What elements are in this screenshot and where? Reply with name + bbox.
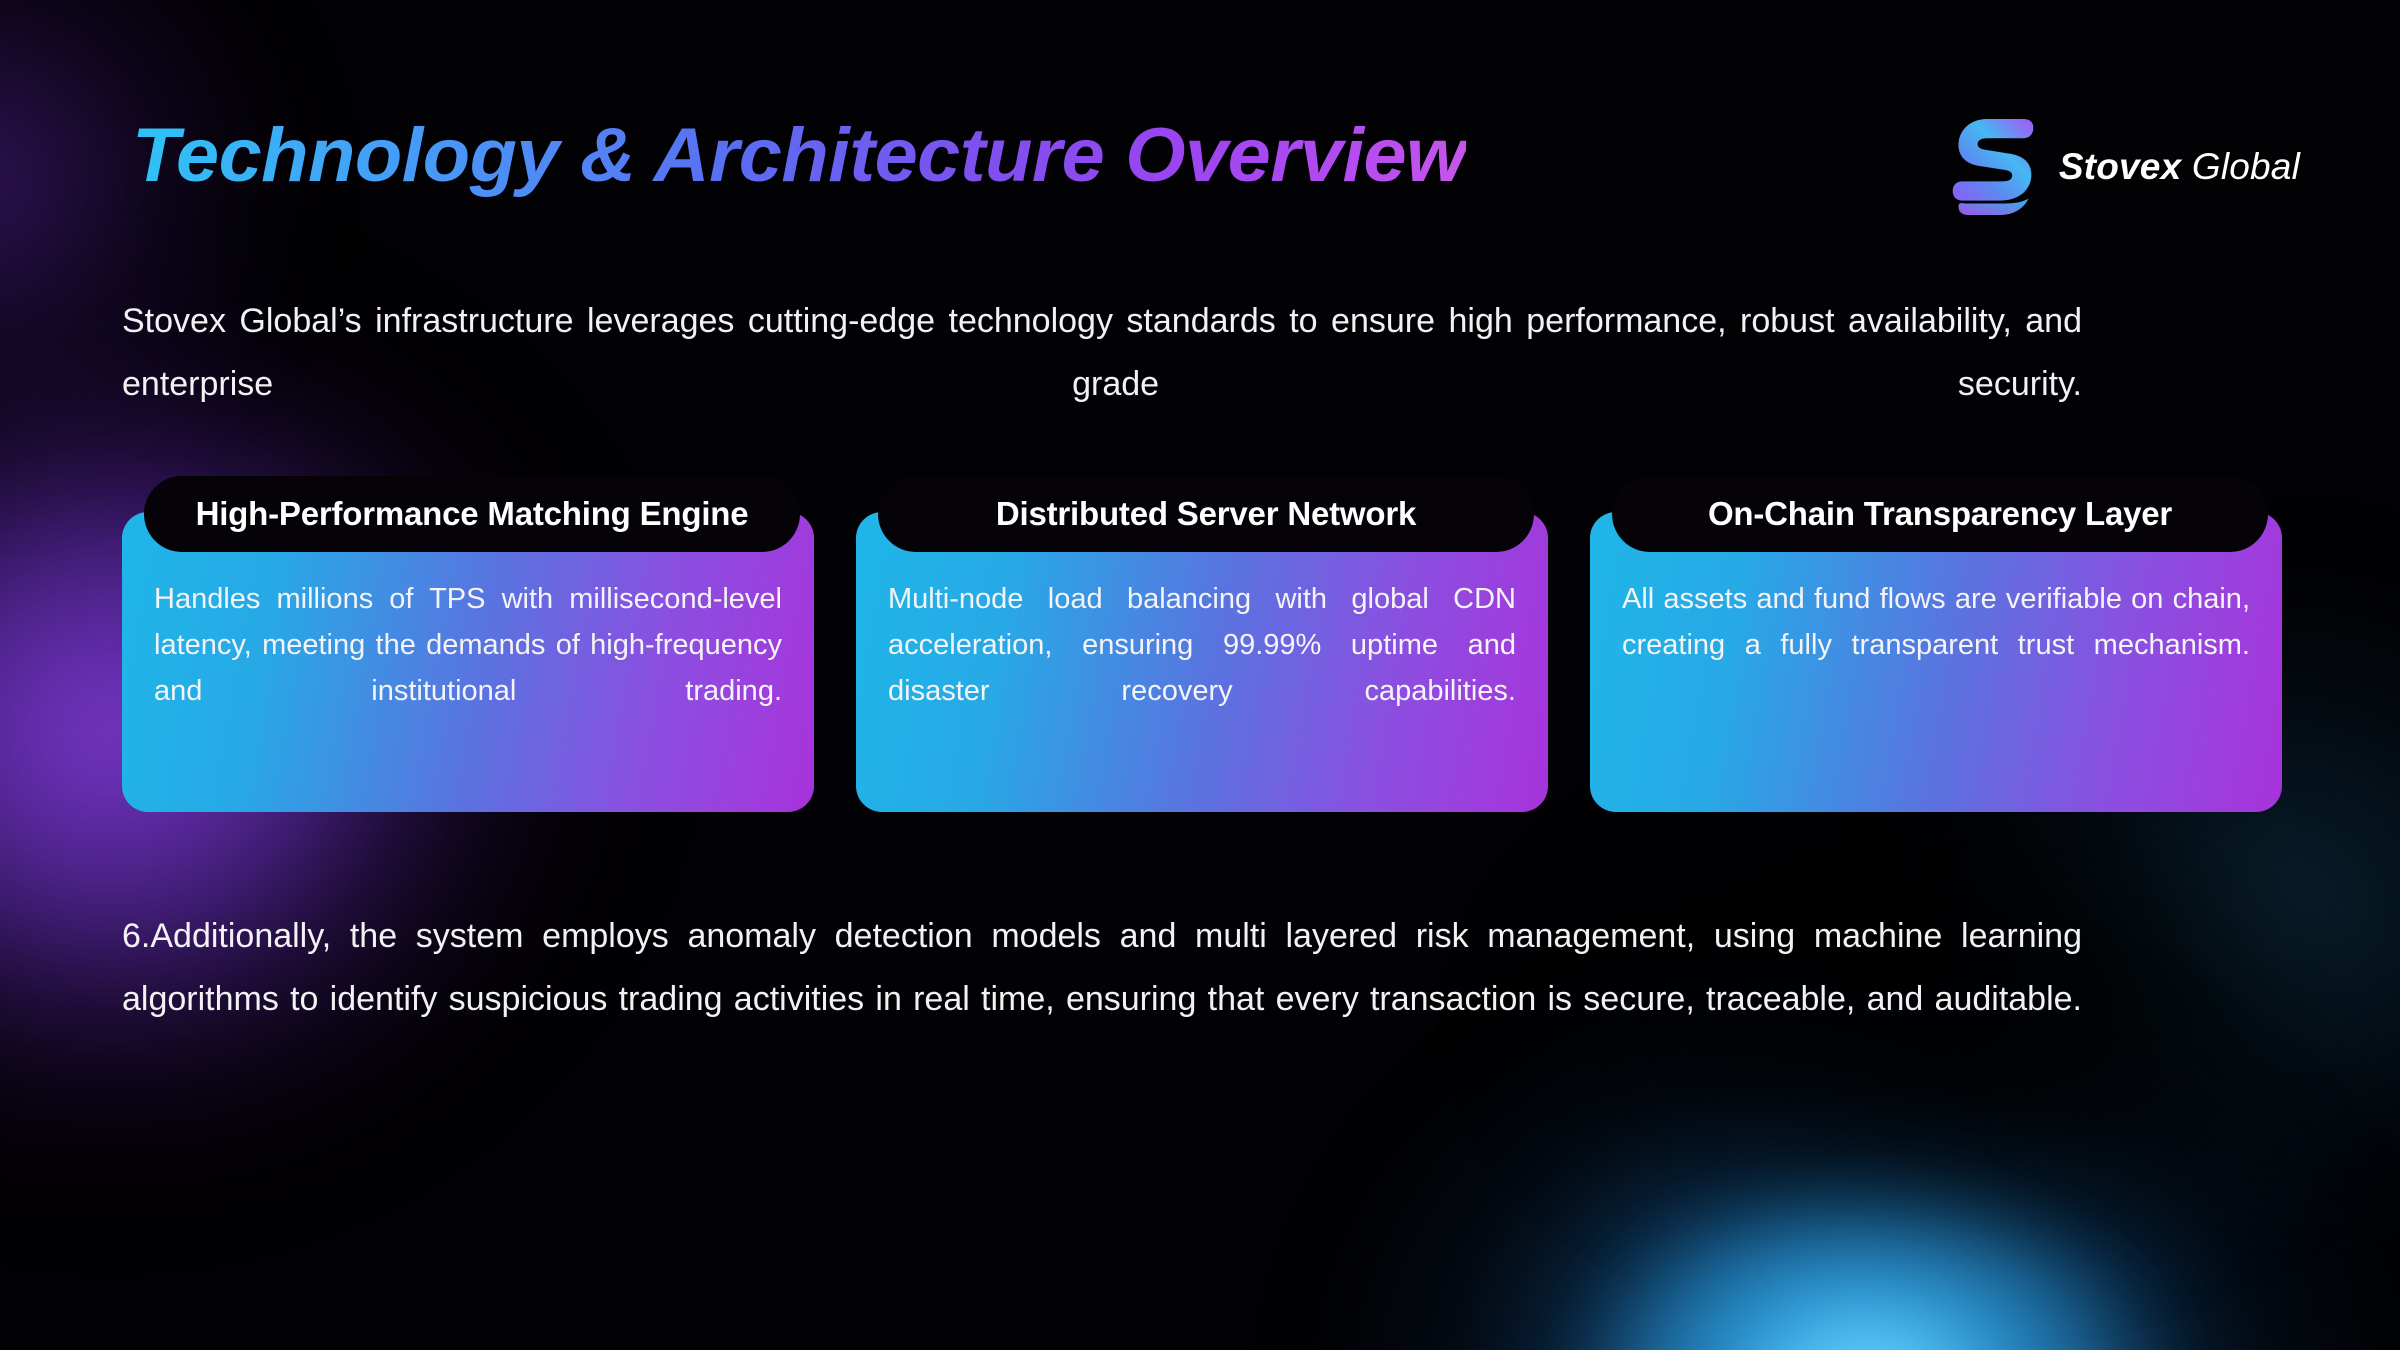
feature-card-title: On-Chain Transparency Layer xyxy=(1618,482,2262,546)
brand-name: Stovex Global xyxy=(2059,146,2300,188)
brand-lockup: Stovex Global xyxy=(1945,118,2300,216)
feature-card-body: All assets and fund flows are verifiable… xyxy=(1622,576,2250,714)
feature-card: Distributed Server Network Multi-node lo… xyxy=(856,512,1548,812)
feature-card-inner: High-Performance Matching Engine Handles… xyxy=(124,514,812,810)
feature-card-title: Distributed Server Network xyxy=(884,482,1528,546)
page-title: Technology & Architecture Overview xyxy=(132,112,1466,199)
brand-name-secondary: Global xyxy=(2192,146,2300,187)
background-glow-cyan-core xyxy=(1560,1180,2180,1350)
feature-card-body: Multi-node load balancing with global CD… xyxy=(888,576,1516,760)
feature-card: High-Performance Matching Engine Handles… xyxy=(122,512,814,812)
feature-card-inner: On-Chain Transparency Layer All assets a… xyxy=(1592,514,2280,810)
slide-root: Technology & Architecture Overview xyxy=(0,0,2400,1350)
feature-card-inner: Distributed Server Network Multi-node lo… xyxy=(858,514,1546,810)
feature-card: On-Chain Transparency Layer All assets a… xyxy=(1590,512,2282,812)
outro-paragraph: 6.Additionally, the system employs anoma… xyxy=(122,905,2082,1094)
feature-card-title: High-Performance Matching Engine xyxy=(150,482,794,546)
stovex-s-logo-icon xyxy=(1945,118,2041,216)
intro-paragraph: Stovex Global’s infrastructure leverages… xyxy=(122,290,2082,479)
feature-card-list: High-Performance Matching Engine Handles… xyxy=(122,512,2282,812)
brand-name-primary: Stovex xyxy=(2059,146,2182,187)
feature-card-body: Handles millions of TPS with millisecond… xyxy=(154,576,782,760)
